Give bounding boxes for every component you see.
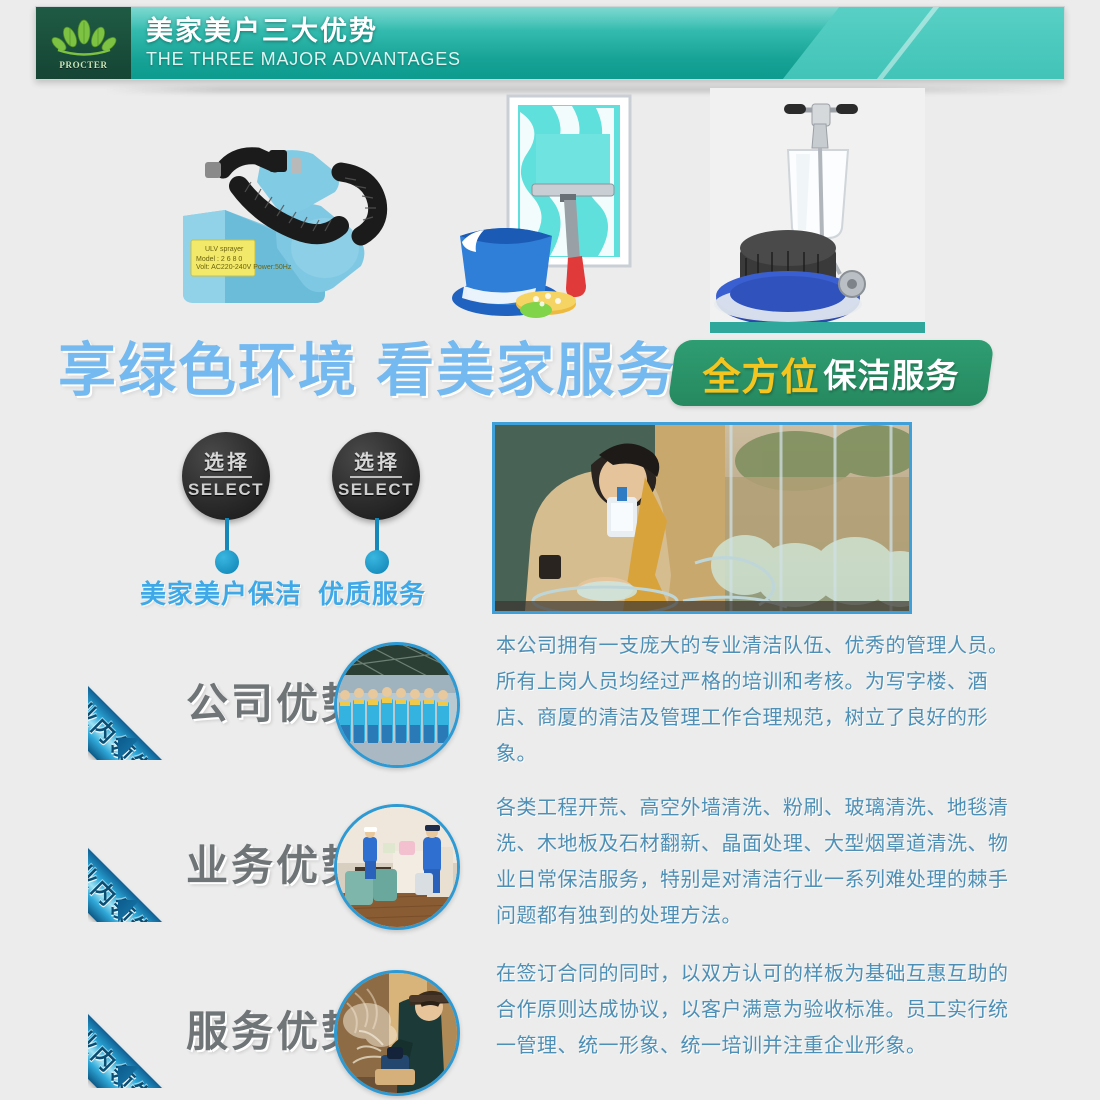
corner-ribbon-1-label: 业内领先: [88, 654, 199, 760]
page-header: PROCTER 美家美户三大优势 THE THREE MAJOR ADVANTA…: [35, 6, 1065, 80]
corner-ribbon-2-label: 业内领先: [88, 816, 199, 922]
svg-text:ULV sprayer: ULV sprayer: [205, 246, 244, 253]
hero-photo: [492, 422, 912, 614]
product-image-window-squeegee: [440, 90, 690, 325]
window-squeegee-bucket-icon: [440, 90, 690, 325]
header-title-cn: 美家美户三大优势: [146, 15, 461, 47]
product-image-floor-polisher: [710, 88, 925, 333]
advantage-photo-3: [334, 970, 460, 1096]
select-pin-1-en: SELECT: [188, 480, 264, 500]
main-headline: 享绿色环境 看美家服务: [58, 338, 676, 404]
advantage-body-3: 在签订合同的同时，以双方认可的样板为基础互惠互助的合作原则达成协议，以客户满意为…: [496, 956, 1012, 1064]
select-pin-2-dot: [365, 550, 389, 574]
select-pin-2[interactable]: 选择 SELECT: [332, 432, 420, 520]
select-pin-2-label: 优质服务: [318, 574, 426, 611]
select-pin-2-en: SELECT: [338, 480, 414, 500]
header-bar: PROCTER 美家美户三大优势 THE THREE MAJOR ADVANTA…: [35, 6, 1065, 80]
brand-logo-text: PROCTER: [59, 60, 107, 70]
indoor-cleaning-crew-photo-icon: [337, 807, 457, 927]
advantage-row-service: 业内领先 服务优势: [0, 950, 1100, 1100]
svg-text:Volt: AC220-240V Power:50Hz: Volt: AC220-240V Power:50Hz: [196, 264, 292, 271]
advantage-row-company: 业内领先 公司优势: [0, 622, 1100, 784]
select-pin-1[interactable]: 选择 SELECT: [182, 432, 270, 520]
floor-polisher-machine-icon: [710, 88, 925, 333]
select-pin-1-label: 美家美户保洁: [140, 574, 302, 611]
promo-page: PROCTER 美家美户三大优势 THE THREE MAJOR ADVANTA…: [0, 0, 1100, 1096]
cleaner-wiping-glass-table-photo-icon: [495, 425, 909, 611]
select-pin-1-cn: 选择: [200, 452, 252, 478]
select-pin-2-circle: 选择 SELECT: [332, 432, 420, 520]
leaf-crown-icon: [51, 19, 117, 59]
product-image-ulv-sprayer: ULV sprayer Model : 2 6 8 0 Volt: AC220-…: [165, 98, 395, 323]
advantage-row-business: 业内领先 业务优势: [0, 784, 1100, 950]
corner-ribbon-3-label: 业内领先: [88, 982, 199, 1088]
service-badge-highlight: 全方位: [702, 346, 819, 401]
ulv-sprayer-fogger-icon: ULV sprayer Model : 2 6 8 0 Volt: AC220-…: [165, 98, 395, 323]
advantages-list: 业内领先 公司优势: [0, 622, 1100, 1100]
worker-spraying-wall-photo-icon: [337, 973, 457, 1093]
select-pin-2-cn: 选择: [350, 452, 402, 478]
service-badge: 全方位 保洁服务: [667, 340, 994, 406]
advantage-body-2: 各类工程开荒、高空外墙清洗、粉刷、玻璃清洗、地毯清洗、木地板及石材翻新、晶面处理…: [496, 790, 1012, 934]
advantage-photo-1: [334, 642, 460, 768]
svg-text:Model : 2 6 8 0: Model : 2 6 8 0: [196, 256, 242, 263]
advantage-photo-2: [334, 804, 460, 930]
select-pin-1-dot: [215, 550, 239, 574]
select-pin-1-circle: 选择 SELECT: [182, 432, 270, 520]
service-badge-rest: 保洁服务: [824, 349, 960, 397]
header-title-en: THE THREE MAJOR ADVANTAGES: [146, 47, 461, 71]
header-title-group: 美家美户三大优势 THE THREE MAJOR ADVANTAGES: [146, 15, 461, 71]
staff-team-lineup-photo-icon: [337, 645, 457, 765]
brand-logo[interactable]: PROCTER: [36, 7, 131, 80]
product-image-strip: ULV sprayer Model : 2 6 8 0 Volt: AC220-…: [0, 88, 1100, 336]
advantage-body-1: 本公司拥有一支庞大的专业清洁队伍、优秀的管理人员。所有上岗人员均经过严格的培训和…: [496, 628, 1012, 772]
